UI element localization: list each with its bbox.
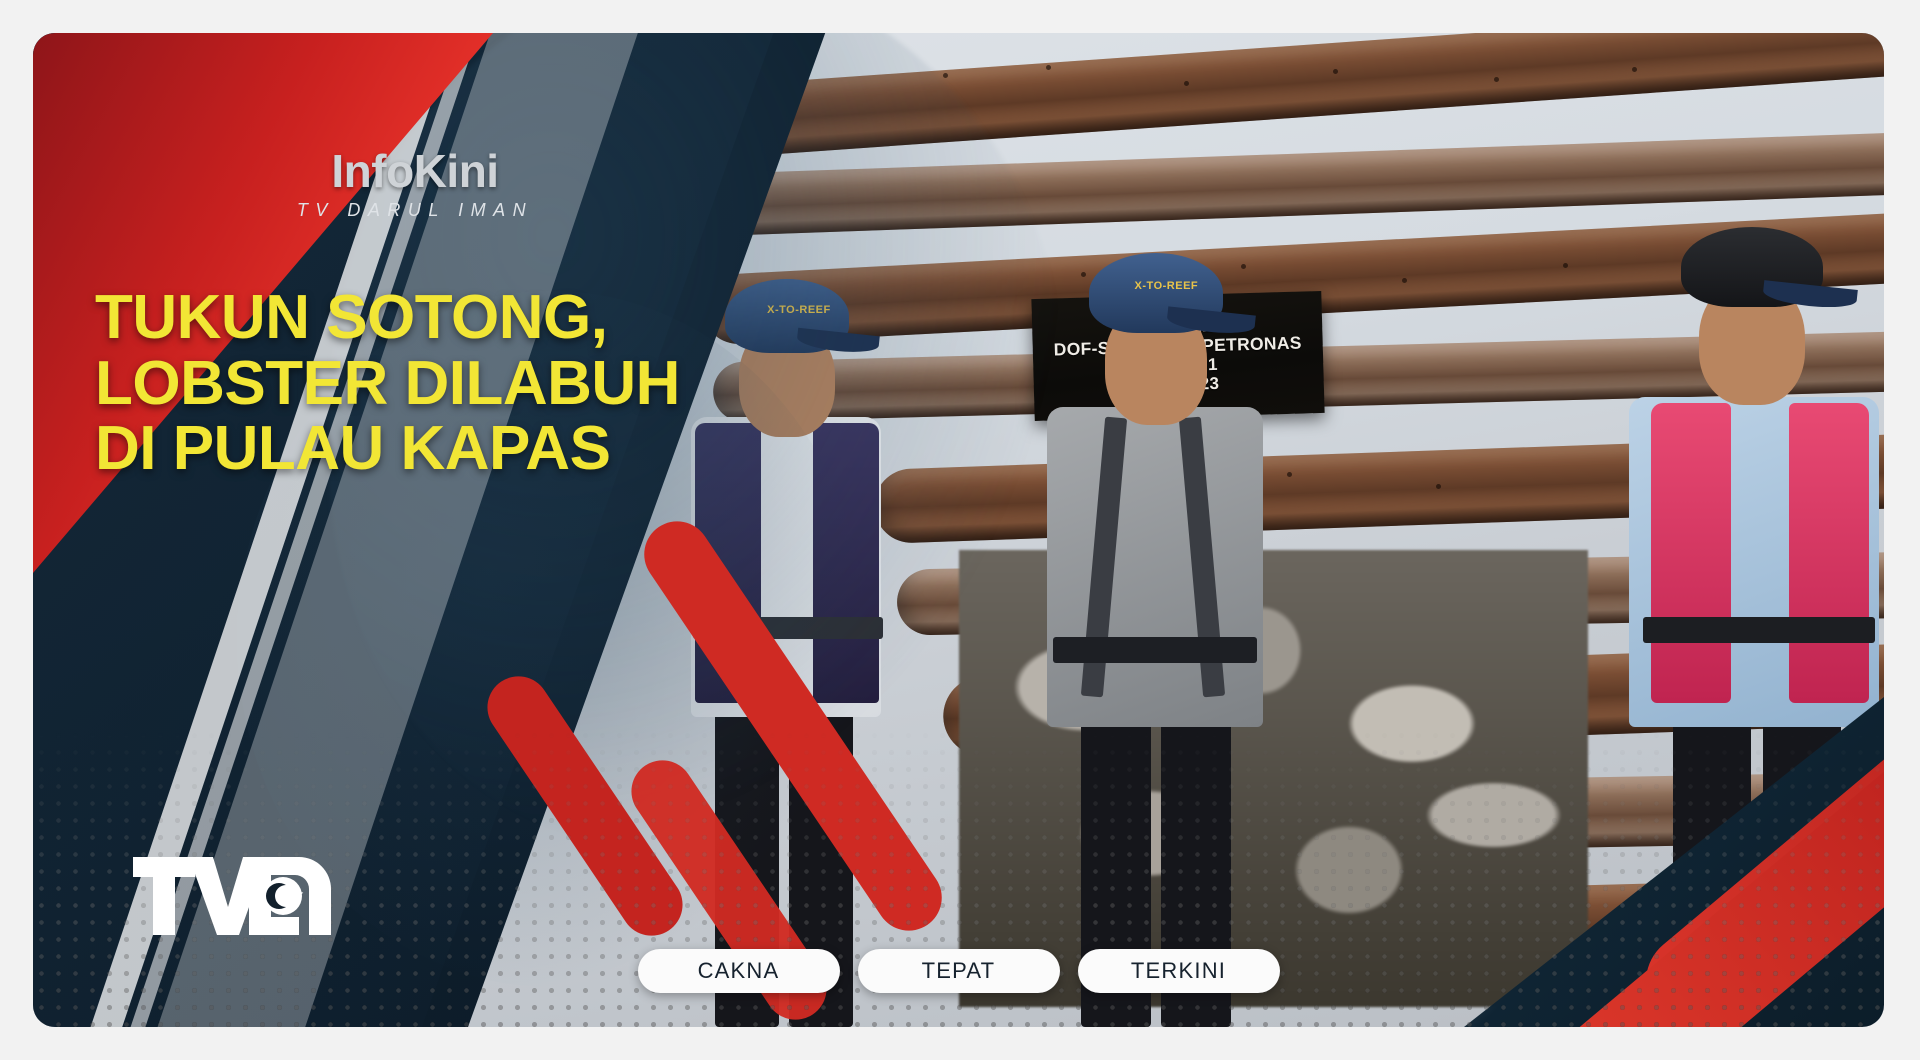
tag-pill-terkini-label: TERKINI xyxy=(1131,958,1226,984)
headline-line-1: TUKUN SOTONG, xyxy=(95,285,735,351)
cap-center-text: X-TO-REEF xyxy=(1135,280,1199,292)
tag-pill-row: CAKNA TEPAT TERKINI xyxy=(33,949,1884,993)
tag-pill-tepat-label: TEPAT xyxy=(922,958,996,984)
tvdi-logo xyxy=(131,855,331,950)
headline-line-3: DI PULAU KAPAS xyxy=(95,416,735,482)
tag-pill-tepat[interactable]: TEPAT xyxy=(858,949,1060,993)
tag-pill-cakna-label: CAKNA xyxy=(698,958,780,984)
news-thumbnail-card: X-TO-REEF DOF-SUMITOMO-PETRONAS TYPE B-1… xyxy=(33,33,1884,1027)
tag-pill-terkini[interactable]: TERKINI xyxy=(1078,949,1280,993)
headline-line-2: LOBSTER DILABUH xyxy=(95,351,735,417)
tag-pill-cakna[interactable]: CAKNA xyxy=(638,949,840,993)
brand-block: InfoKini TV DARUL IMAN xyxy=(280,148,550,221)
headline: TUKUN SOTONG, LOBSTER DILABUH DI PULAU K… xyxy=(95,285,735,482)
cap-right xyxy=(1681,227,1823,307)
brand-subtitle: TV DARUL IMAN xyxy=(280,200,550,221)
cap-center: X-TO-REEF xyxy=(1089,253,1223,333)
crescent-star-icon xyxy=(264,877,303,915)
brand-name: InfoKini xyxy=(280,148,550,194)
person-center: X-TO-REEF xyxy=(1033,207,1283,1027)
